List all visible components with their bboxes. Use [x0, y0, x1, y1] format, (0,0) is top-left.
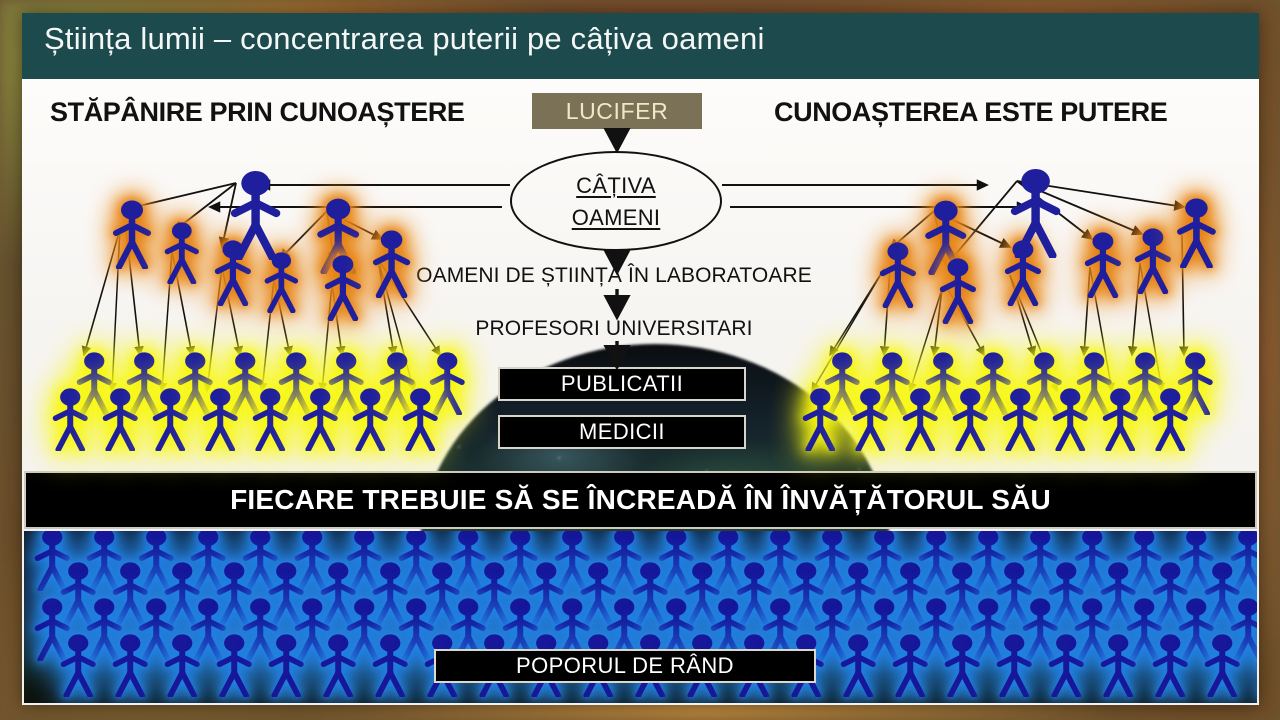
stick-figure-manager	[162, 221, 202, 284]
ellipse-line-2: OAMENI	[512, 205, 720, 231]
stick-figure-leader	[227, 169, 284, 260]
poporul-de-rand-label: POPORUL DE RÂND	[516, 653, 734, 679]
stick-figure-worker	[1050, 387, 1090, 451]
page-title: Știința lumii – concentrarea puterii pe …	[44, 21, 765, 57]
stick-figure-worker	[100, 387, 140, 451]
flow-label-professors: PROFESORI UNIVERSITARI	[374, 317, 854, 341]
stick-figure-worker	[800, 387, 840, 451]
medicii-label: MEDICII	[579, 419, 665, 445]
heading-right: CUNOAȘTEREA ESTE PUTERE	[774, 97, 1167, 128]
stick-figure-manager	[110, 199, 154, 269]
cativa-oameni-ellipse: CÂȚIVA OAMENI	[510, 151, 722, 251]
medicii-box: MEDICII	[498, 415, 746, 449]
publicatii-box: PUBLICATII	[498, 367, 746, 401]
stick-figure-worker	[150, 387, 190, 451]
stick-figure-leader	[1007, 167, 1064, 258]
publicatii-label: PUBLICATII	[561, 371, 683, 397]
stick-figure-masses	[838, 633, 878, 697]
stick-figure-masses	[266, 633, 306, 697]
stick-figure-masses	[58, 633, 98, 697]
stick-figure-masses	[942, 633, 982, 697]
stick-figure-worker	[950, 387, 990, 451]
stick-figure-masses	[318, 633, 358, 697]
lucifer-label: LUCIFER	[566, 98, 669, 125]
stick-figure-worker	[900, 387, 940, 451]
ellipse-line-1: CÂȚIVA	[512, 173, 720, 199]
stick-figure-worker	[400, 387, 440, 451]
stick-figure-worker	[1000, 387, 1040, 451]
stick-figure-masses	[1254, 633, 1257, 697]
stick-figure-masses	[1098, 633, 1138, 697]
stick-figure-worker	[50, 387, 90, 451]
heading-left: STĂPÂNIRE PRIN CUNOAȘTERE	[50, 97, 465, 128]
stick-figure-manager	[1174, 197, 1219, 268]
stick-figure-worker	[350, 387, 390, 451]
stick-figure-worker	[850, 387, 890, 451]
stick-figure-worker	[300, 387, 340, 451]
stick-figure-manager	[322, 254, 364, 321]
stick-figure-worker	[1100, 387, 1140, 451]
lucifer-node: LUCIFER	[532, 93, 702, 129]
stick-figure-masses	[214, 633, 254, 697]
stick-figure-worker	[1150, 387, 1190, 451]
stick-figure-manager	[370, 229, 413, 298]
stick-figure-masses	[110, 633, 150, 697]
stick-figure-masses	[162, 633, 202, 697]
presentation-slide: Știința lumii – concentrarea puterii pe …	[22, 13, 1259, 705]
stick-figure-worker	[250, 387, 290, 451]
trust-banner-label: FIECARE TREBUIE SĂ SE ÎNCREADĂ ÎN ÎNVĂȚĂ…	[230, 484, 1051, 516]
stick-figure-manager	[877, 241, 919, 308]
stick-figure-manager	[262, 251, 301, 313]
stick-figure-manager	[937, 257, 979, 324]
stick-figure-masses	[1202, 633, 1242, 697]
poporul-de-rand-box: POPORUL DE RÂND	[434, 649, 816, 683]
slide-title-bar: Știința lumii – concentrarea puterii pe …	[22, 13, 1259, 79]
stick-figure-masses	[1046, 633, 1086, 697]
stick-figure-worker	[200, 387, 240, 451]
stick-figure-manager	[1132, 227, 1174, 294]
trust-banner: FIECARE TREBUIE SĂ SE ÎNCREADĂ ÎN ÎNVĂȚĂ…	[24, 471, 1257, 529]
stick-figure-masses	[1150, 633, 1190, 697]
stick-figure-masses	[890, 633, 930, 697]
flow-label-scientists: OAMENI DE ȘTIINȚĂ ÎN LABORATOARE	[374, 264, 854, 288]
stick-figure-masses	[994, 633, 1034, 697]
stick-figure-manager	[1082, 231, 1124, 298]
stick-figure-masses	[370, 633, 410, 697]
slide-content-area: STĂPÂNIRE PRIN CUNOAȘTERE CUNOAȘTEREA ES…	[22, 79, 1259, 705]
